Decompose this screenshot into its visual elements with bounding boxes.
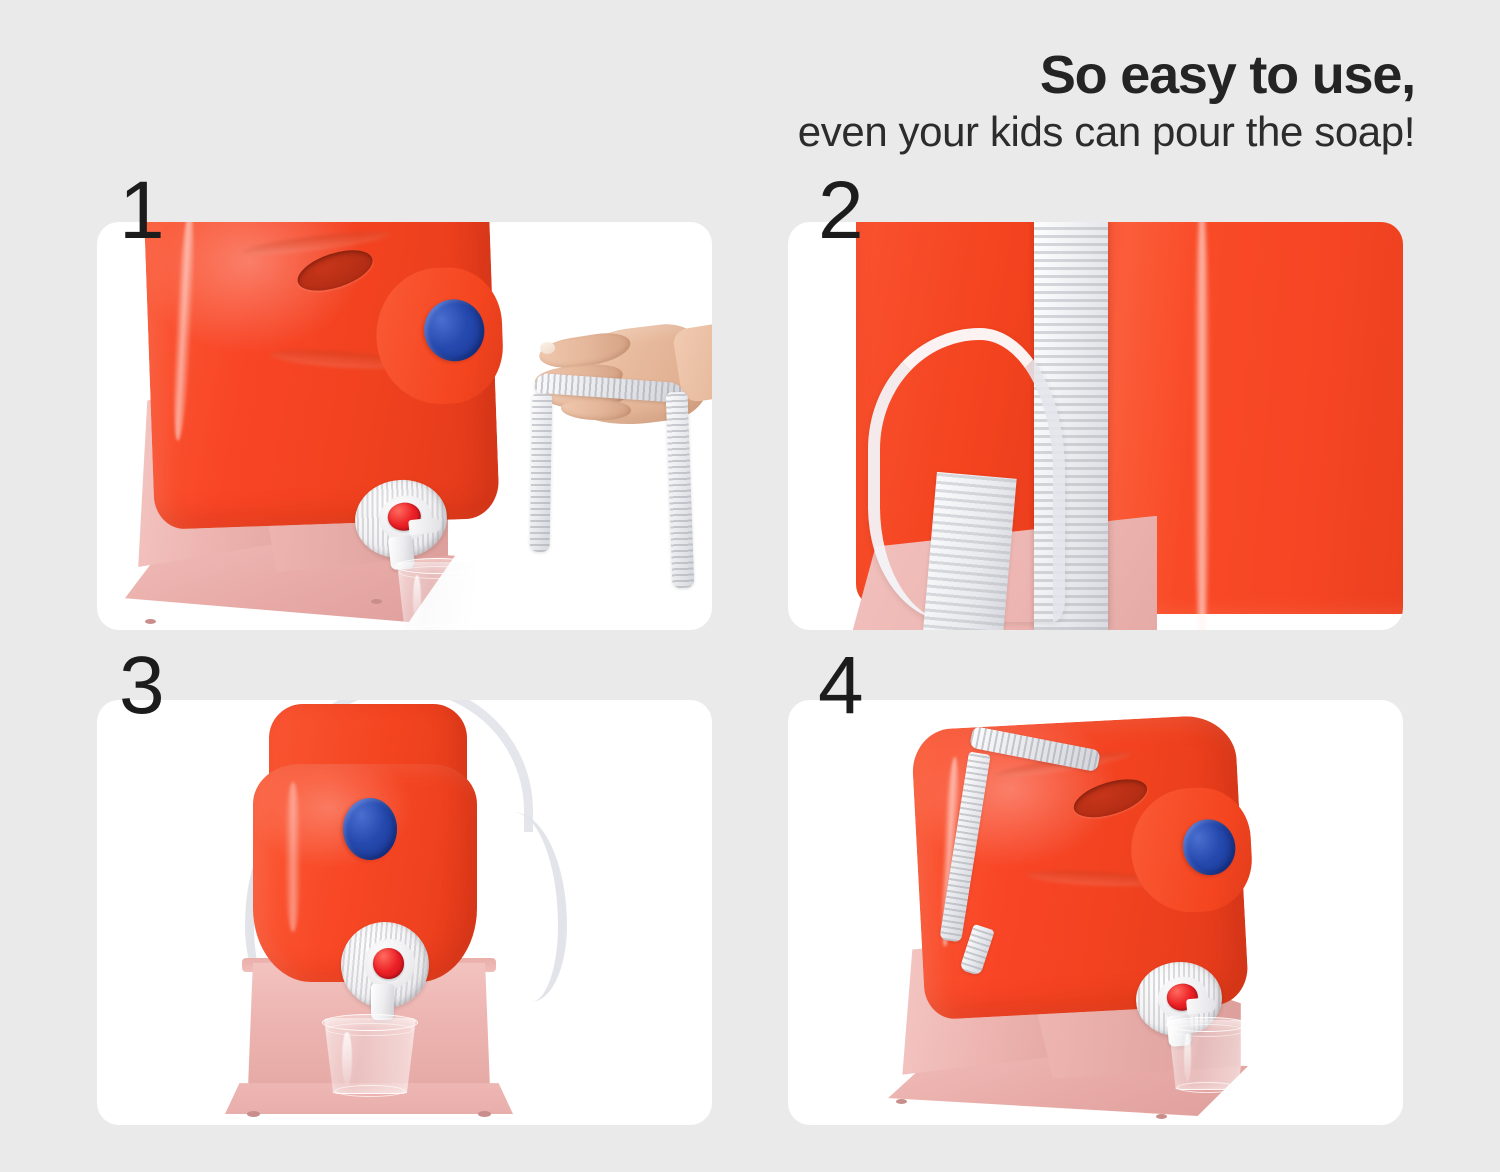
stand-foot-left	[247, 1111, 260, 1117]
promo-heading: So easy to use, even your kids can pour …	[798, 48, 1415, 153]
red-spigot-button[interactable]	[373, 948, 405, 979]
cup-gloss	[342, 1032, 351, 1085]
stand-foot-right	[1156, 1114, 1167, 1119]
velcro-strap-top-span	[534, 373, 685, 403]
bottle-front-highlight	[285, 782, 301, 932]
step-number-2: 2	[818, 170, 864, 252]
white-spigot[interactable]	[351, 475, 451, 562]
step-number-3: 3	[119, 645, 165, 727]
hand-fingernail	[540, 342, 555, 354]
cup-rim-inner	[326, 1023, 414, 1037]
bottle-highlight-stripe	[1194, 222, 1210, 630]
panel-2-artwork	[788, 222, 1403, 630]
clear-measuring-cup	[397, 562, 477, 630]
velcro-strap[interactable]	[521, 378, 711, 588]
clear-measuring-cup	[324, 1018, 416, 1094]
velcro-strap-fastened[interactable]	[936, 730, 1126, 980]
step-panel-1: 1	[97, 222, 712, 630]
stand-foot-left	[896, 1099, 907, 1104]
detergent-bottle	[143, 222, 500, 530]
panel-1-artwork	[97, 222, 712, 630]
velcro-strap-left-tail	[530, 394, 553, 552]
step-panel-4: 4	[788, 700, 1403, 1125]
heading-line-1: So easy to use,	[798, 48, 1415, 102]
stand-foot-right	[371, 599, 382, 604]
cup-base	[407, 625, 468, 630]
panel-4-artwork	[788, 700, 1403, 1125]
step-number-4: 4	[818, 645, 864, 727]
velcro-strap-right-tail	[666, 392, 695, 589]
cup-base	[335, 1085, 405, 1097]
cup-base	[1177, 1082, 1236, 1093]
stand-foot-right	[478, 1111, 491, 1117]
strap-down-front	[939, 751, 990, 942]
cup-gloss	[413, 575, 421, 625]
clear-measuring-cup	[1168, 1020, 1246, 1090]
heading-line-2: even your kids can pour the soap!	[798, 111, 1415, 153]
step-panel-2: 2	[788, 222, 1403, 630]
velcro-strap-tail	[922, 472, 1017, 630]
strap-tail-end	[959, 924, 995, 976]
white-spigot[interactable]	[341, 922, 429, 1008]
cup-rim-inner	[1170, 1024, 1245, 1037]
blue-cap	[343, 798, 397, 860]
step-number-1: 1	[119, 170, 165, 252]
panel-3-artwork	[97, 700, 712, 1125]
step-panel-3: 3	[97, 700, 712, 1125]
stand-foot-left	[145, 619, 156, 624]
